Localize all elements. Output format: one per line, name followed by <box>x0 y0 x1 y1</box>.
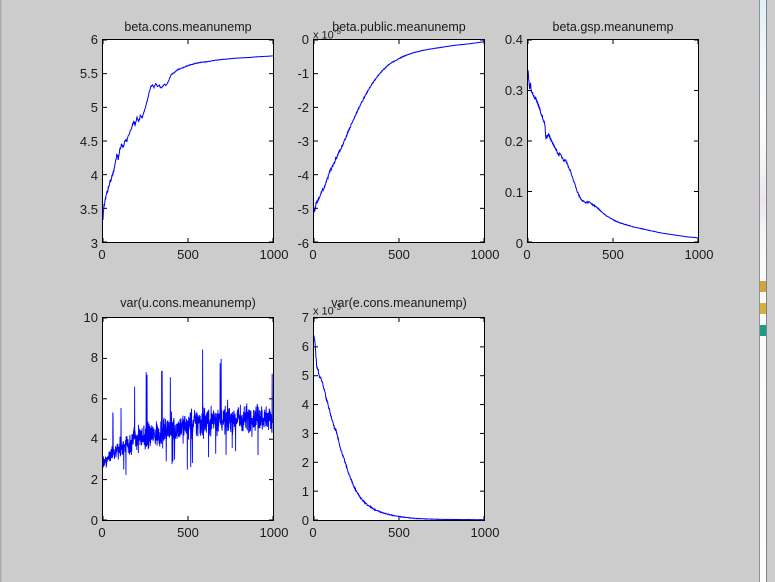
figure-window: beta.cons.meanunemp 6 5.5 5 4.5 4 3.5 3 … <box>0 0 775 582</box>
subplot-5-ytick-3: 3 <box>277 427 309 440</box>
subplot-4-ytick-2: 2 <box>62 473 98 486</box>
subplot-5-exponent-mantissa: x 10 <box>313 306 334 318</box>
subplot-5-exponent-power: -3 <box>334 303 341 312</box>
subplot-5-plot-line <box>314 318 484 520</box>
trace-path <box>528 70 698 238</box>
subplot-1-ytick-4: 4 <box>66 169 98 182</box>
subplot-2-ytick--2: -2 <box>277 101 309 114</box>
trace-path <box>103 349 273 474</box>
subplot-5-exponent-label: x 10-3 <box>313 302 341 318</box>
subplot-1-plot-line <box>103 40 273 242</box>
subplot-2-xtick-500: 500 <box>383 248 415 261</box>
subplot-5-axes[interactable] <box>313 317 485 521</box>
tick-marks <box>103 40 273 242</box>
subplot-4-xtick-1000: 1000 <box>253 526 295 539</box>
tick-marks <box>528 40 698 242</box>
subplot-1-xtick-0: 0 <box>90 248 114 261</box>
subplot-2-ytick--1: -1 <box>277 67 309 80</box>
subplot-4-title: var(u.cons.meanunemp) <box>102 296 274 310</box>
subplot-1-title: beta.cons.meanunemp <box>102 20 274 34</box>
subplot-5-ytick-5: 5 <box>277 369 309 382</box>
subplot-4-xtick-500: 500 <box>172 526 204 539</box>
matlab-figure-canvas: beta.cons.meanunemp 6 5.5 5 4.5 4 3.5 3 … <box>2 0 751 582</box>
subplot-2-ytick--4: -4 <box>277 169 309 182</box>
subplot-2-xtick-0: 0 <box>301 248 325 261</box>
trace-path <box>314 42 484 213</box>
subplot-1-ytick-4.5: 4.5 <box>66 135 98 148</box>
subplot-1-ytick-5: 5 <box>66 101 98 114</box>
subplot-1-ytick-3.5: 3.5 <box>66 203 98 216</box>
subplot-1-axes[interactable] <box>102 39 274 243</box>
subplot-3-xtick-500: 500 <box>597 248 629 261</box>
subplot-4-ytick-6: 6 <box>62 392 98 405</box>
folder-icon[interactable] <box>760 303 766 314</box>
tick-marks <box>314 318 484 520</box>
subplot-2-ytick--5: -5 <box>277 203 309 216</box>
subplot-5-ytick-2: 2 <box>277 456 309 469</box>
subplot-2-ytick-0: 0 <box>277 33 309 46</box>
subplot-4-xtick-0: 0 <box>90 526 114 539</box>
subplot-3-ytick-0.3: 0.3 <box>485 84 523 97</box>
tick-marks <box>314 40 484 242</box>
subplot-5-xtick-500: 500 <box>383 526 415 539</box>
subplot-2-plot-line <box>314 40 484 242</box>
subplot-3-xtick-0: 0 <box>515 248 539 261</box>
subplot-3-ytick-0.4: 0.4 <box>485 33 523 46</box>
subplot-4-ytick-4: 4 <box>62 432 98 445</box>
subplot-1-xtick-500: 500 <box>172 248 204 261</box>
subplot-5-ytick-1: 1 <box>277 485 309 498</box>
subplot-4-axes[interactable] <box>102 317 274 521</box>
trace-path <box>103 56 273 220</box>
subplot-4-ytick-8: 8 <box>62 351 98 364</box>
subplot-3-axes[interactable] <box>527 39 699 243</box>
subplot-2-axes[interactable] <box>313 39 485 243</box>
subplot-4-plot-line <box>103 318 273 520</box>
subplot-2-exponent-power: -5 <box>334 27 341 36</box>
subplot-1-ytick-6: 6 <box>66 33 98 46</box>
terminal-icon[interactable] <box>760 325 766 336</box>
folder-icon[interactable] <box>760 281 766 292</box>
subplot-4-ytick-10: 10 <box>62 311 98 324</box>
subplot-2-ytick--3: -3 <box>277 135 309 148</box>
window-border-right <box>766 0 767 582</box>
subplot-5-ytick-6: 6 <box>277 340 309 353</box>
subplot-3-title: beta.gsp.meanunemp <box>527 20 699 34</box>
subplot-5-ytick-4: 4 <box>277 398 309 411</box>
subplot-3-ytick-0.2: 0.2 <box>485 135 523 148</box>
subplot-5-xtick-0: 0 <box>301 526 325 539</box>
subplot-3-xtick-1000: 1000 <box>678 248 720 261</box>
trace-path <box>314 336 484 520</box>
background-window-strip[interactable] <box>753 0 775 582</box>
subplot-5-xtick-1000: 1000 <box>464 526 506 539</box>
subplot-3-ytick-0.1: 0.1 <box>485 186 523 199</box>
subplot-3-plot-line <box>528 40 698 242</box>
subplot-1-ytick-5.5: 5.5 <box>66 67 98 80</box>
subplot-5-ytick-7: 7 <box>277 311 309 324</box>
